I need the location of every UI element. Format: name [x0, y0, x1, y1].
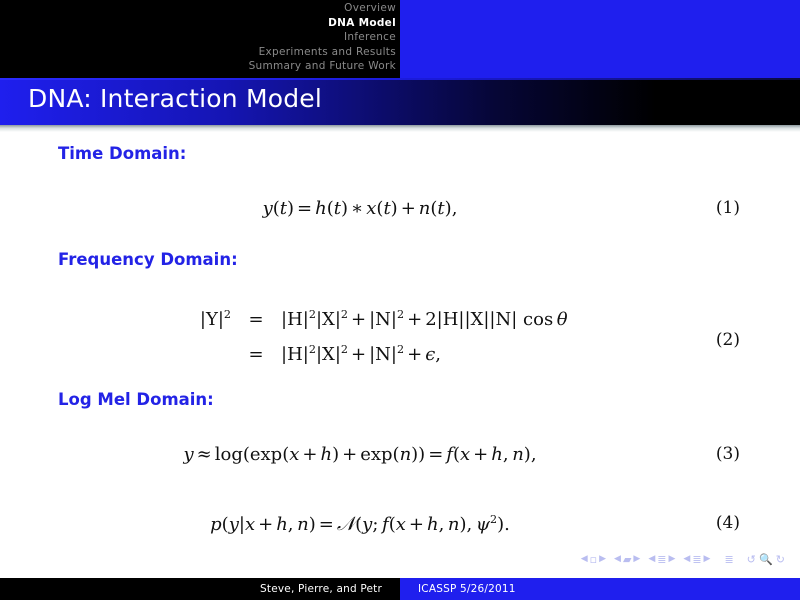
subsection-navigation-group[interactable]: ◀ ≣ ▶: [648, 554, 675, 565]
equation-2-equals-2: =: [245, 340, 267, 370]
section-icon[interactable]: ≣: [692, 554, 701, 565]
section-navigation-group[interactable]: ◀ ≣ ▶: [683, 554, 710, 565]
slide-icon[interactable]: ▫: [590, 554, 597, 565]
beamer-navigation-symbols[interactable]: ◀ ▫ ▶ ◀ ▰ ▶ ◀ ≣ ▶ ◀ ≣ ▶ ≣ ↺ 🔍 ↻: [581, 553, 786, 566]
equation-4-body: p(y|x+h, n)=𝒩(y; f(x+h, n), ψ2).: [0, 513, 760, 535]
equation-3-body: y≈log(exp(x+h)+exp(n))=f(x+h, n),: [0, 444, 760, 465]
footer-bar: Steve, Pierre, and Petr ICASSP 5/26/2011: [0, 578, 800, 600]
next-frame-icon[interactable]: ▶: [633, 555, 640, 564]
section-heading-log-mel-domain: Log Mel Domain:: [58, 390, 214, 409]
footer-authors: Steve, Pierre, and Petr: [260, 583, 400, 595]
nav-item-overview[interactable]: Overview: [0, 1, 396, 16]
title-bar-topline: [0, 78, 800, 80]
footer-venue: ICASSP 5/26/2011: [400, 583, 516, 595]
header-bar: Overview DNA Model Inference Experiments…: [0, 0, 800, 78]
equation-2-number: (2): [716, 330, 740, 350]
footer-authors-panel: Steve, Pierre, and Petr: [0, 578, 400, 600]
nav-item-experiments-and-results[interactable]: Experiments and Results: [0, 45, 396, 60]
next-subsection-icon[interactable]: ▶: [668, 555, 675, 564]
prev-section-icon[interactable]: ◀: [683, 555, 690, 564]
nav-item-inference[interactable]: Inference: [0, 30, 396, 45]
equation-2-body: |Y|2 = |H|2|X|2+|N|2+2|H||X||N| cos θ = …: [0, 300, 770, 370]
prev-subsection-icon[interactable]: ◀: [648, 555, 655, 564]
section-heading-frequency-domain: Frequency Domain:: [58, 250, 238, 269]
prev-slide-icon[interactable]: ◀: [581, 555, 588, 564]
equation-4-number: (4): [716, 513, 740, 533]
back-search-forward-icons[interactable]: ↺ 🔍 ↻: [747, 553, 786, 566]
equation-3-number: (3): [716, 444, 740, 464]
equation-1-body: y(t)=h(t)∗x(t)+n(t),: [0, 198, 760, 219]
nav-item-summary-and-future-work[interactable]: Summary and Future Work: [0, 59, 396, 74]
frame-navigation-group[interactable]: ◀ ▰ ▶: [614, 554, 640, 565]
equation-1-number: (1): [716, 198, 740, 218]
page-title: DNA: Interaction Model: [28, 84, 322, 113]
title-bar-shadow: [0, 125, 800, 132]
equation-2-rhs-2: |H|2|X|2+|N|2+ϵ,: [267, 335, 641, 370]
frame-icon[interactable]: ▰: [623, 554, 631, 565]
slide-body: Time Domain: y(t)=h(t)∗x(t)+n(t), (1) Fr…: [0, 132, 800, 542]
subsection-icon[interactable]: ≣: [657, 554, 666, 565]
equation-2-rhs-1: |H|2|X|2+|N|2+2|H||X||N| cos θ: [267, 300, 641, 335]
prev-frame-icon[interactable]: ◀: [614, 555, 621, 564]
slide-navigation-group[interactable]: ◀ ▫ ▶: [581, 554, 606, 565]
nav-item-dna-model[interactable]: DNA Model: [0, 16, 396, 31]
equation-2-lhs: |Y|2: [99, 300, 245, 335]
next-section-icon[interactable]: ▶: [704, 555, 711, 564]
section-heading-time-domain: Time Domain:: [58, 144, 186, 163]
equation-2-line-1: |Y|2 = |H|2|X|2+|N|2+2|H||X||N| cos θ: [0, 300, 770, 335]
equation-2-equals-1: =: [245, 305, 267, 335]
section-navigation: Overview DNA Model Inference Experiments…: [0, 1, 396, 74]
next-slide-icon[interactable]: ▶: [599, 555, 606, 564]
slide: Overview DNA Model Inference Experiments…: [0, 0, 800, 600]
footer-venue-panel: ICASSP 5/26/2011: [400, 578, 800, 600]
presentation-icon[interactable]: ≣: [724, 554, 733, 565]
equation-2-line-2: = |H|2|X|2+|N|2+ϵ,: [0, 335, 770, 370]
